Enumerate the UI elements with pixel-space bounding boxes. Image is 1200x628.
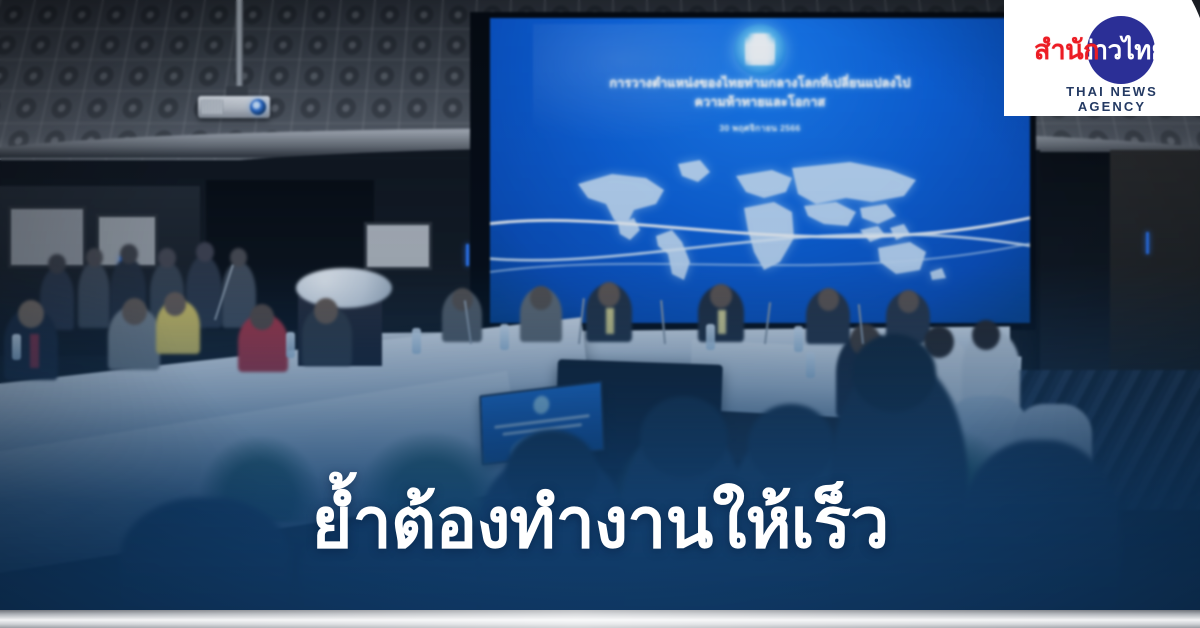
logo-english-text: THAI NEWS AGENCY bbox=[1032, 84, 1192, 114]
bottom-silver-bar bbox=[0, 610, 1200, 628]
logo-thai-red-text: สำนัก bbox=[1034, 37, 1099, 64]
logo-wordmark: สำนัก ข่าวไทย bbox=[1034, 16, 1155, 84]
headline-caption: ย้ำต้องทำงานให้เร็ว bbox=[0, 488, 1200, 558]
news-video-frame: การวางตำแหน่งของไทยท่ามกลางโลกที่เปลี่ยน… bbox=[0, 0, 1200, 628]
thai-news-agency-logo: สำนัก ข่าวไทย THAI NEWS AGENCY bbox=[1004, 0, 1200, 116]
